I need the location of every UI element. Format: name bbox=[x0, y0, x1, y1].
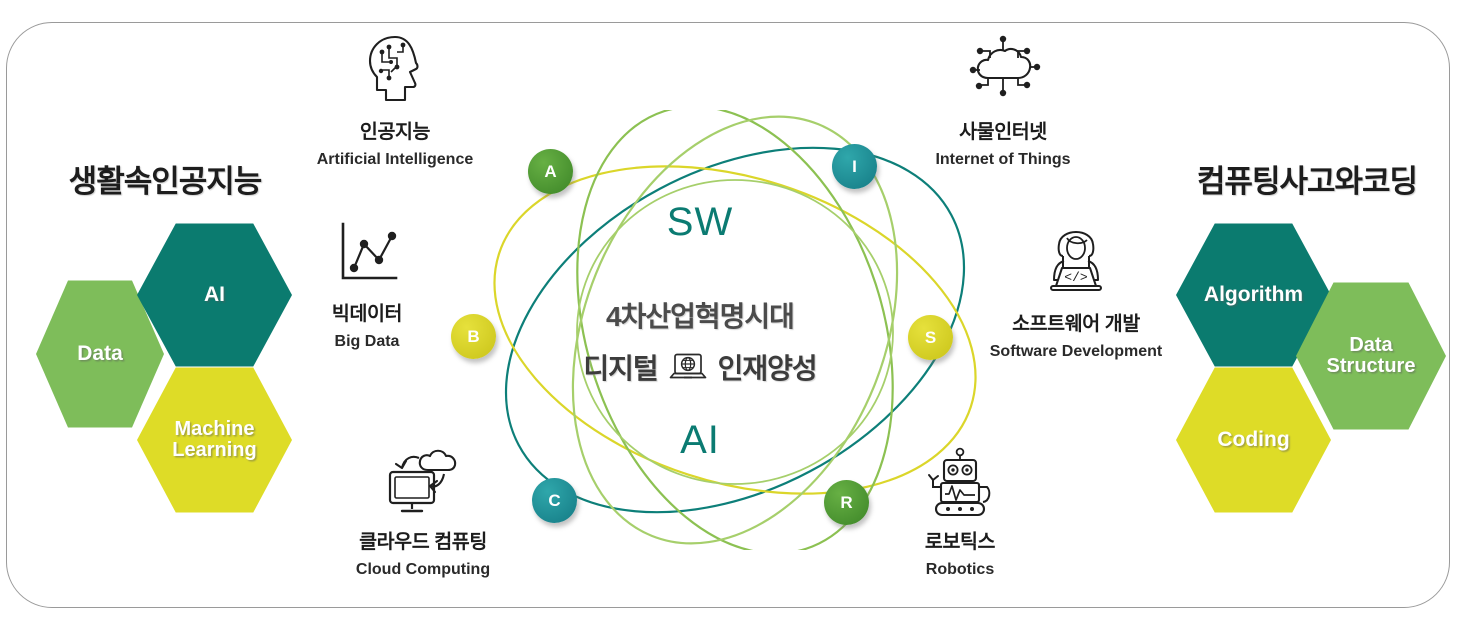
badge-i[interactable]: I bbox=[832, 144, 877, 189]
hexagon-coding-label: Coding bbox=[1217, 429, 1289, 451]
badge-a[interactable]: A bbox=[528, 149, 573, 194]
left-section-title: 생활속인공지능 bbox=[30, 156, 300, 201]
node-ai-en: Artificial Intelligence bbox=[280, 151, 510, 169]
center-sw-label: SW bbox=[600, 200, 800, 245]
hexagon-data-structure-label: DataStructure bbox=[1327, 335, 1416, 377]
center-ai-label: AI bbox=[600, 418, 800, 463]
node-bigdata-en: Big Data bbox=[252, 333, 482, 351]
node-iot-en: Internet of Things bbox=[888, 151, 1118, 169]
node-swdev-kr: 소프트웨어 개발 bbox=[951, 307, 1201, 336]
node-robotics-en: Robotics bbox=[845, 561, 1075, 579]
node-software-development[interactable]: </> 소프트웨어 개발 Software Development bbox=[951, 222, 1201, 361]
node-big-data[interactable]: 빅데이터 Big Data bbox=[252, 212, 482, 351]
badge-i-letter: I bbox=[852, 157, 857, 177]
badge-a-letter: A bbox=[544, 162, 556, 182]
robot-icon bbox=[845, 440, 1075, 518]
badge-c[interactable]: C bbox=[532, 478, 577, 523]
iot-cloud-nodes-icon bbox=[888, 30, 1118, 108]
hexagon-algorithm-label: Algorithm bbox=[1204, 284, 1303, 306]
hexagon-data-label: Data bbox=[77, 343, 123, 365]
node-cloud-en: Cloud Computing bbox=[308, 561, 538, 579]
badge-s[interactable]: S bbox=[908, 315, 953, 360]
badge-c-letter: C bbox=[548, 491, 560, 511]
center-headline-line2: 디지털 인재양성 bbox=[500, 347, 900, 387]
developer-laptop-code-icon: </> bbox=[951, 222, 1201, 300]
line-chart-icon bbox=[252, 212, 482, 290]
node-cloud-kr: 클라우드 컴퓨팅 bbox=[308, 525, 538, 554]
center-headline-before: 디지털 bbox=[583, 347, 657, 387]
center-headline-after: 인재양성 bbox=[718, 347, 817, 387]
node-iot-kr: 사물인터넷 bbox=[888, 115, 1118, 144]
node-robotics[interactable]: 로보틱스 Robotics bbox=[845, 440, 1075, 579]
node-internet-of-things[interactable]: 사물인터넷 Internet of Things bbox=[888, 30, 1118, 169]
hexagon-machine-learning-label: MachineLearning bbox=[172, 419, 256, 461]
hexagon-ai-label: AI bbox=[204, 284, 225, 306]
laptop-globe-icon bbox=[668, 351, 708, 383]
badge-s-letter: S bbox=[925, 328, 936, 348]
node-cloud-computing[interactable]: 클라우드 컴퓨팅 Cloud Computing bbox=[308, 440, 538, 579]
center-headline-line1: 4차산업혁명시대 bbox=[520, 295, 880, 335]
monitor-cloud-sync-icon bbox=[308, 440, 538, 518]
node-bigdata-kr: 빅데이터 bbox=[252, 297, 482, 326]
node-artificial-intelligence[interactable]: 인공지능 Artificial Intelligence bbox=[280, 30, 510, 169]
node-swdev-en: Software Development bbox=[951, 343, 1201, 361]
node-ai-kr: 인공지능 bbox=[280, 115, 510, 144]
svg-text:</>: </> bbox=[1064, 270, 1088, 285]
ai-head-circuit-icon bbox=[280, 30, 510, 108]
node-robotics-kr: 로보틱스 bbox=[845, 525, 1075, 554]
right-section-title: 컴퓨팅사고와코딩 bbox=[1162, 156, 1452, 201]
